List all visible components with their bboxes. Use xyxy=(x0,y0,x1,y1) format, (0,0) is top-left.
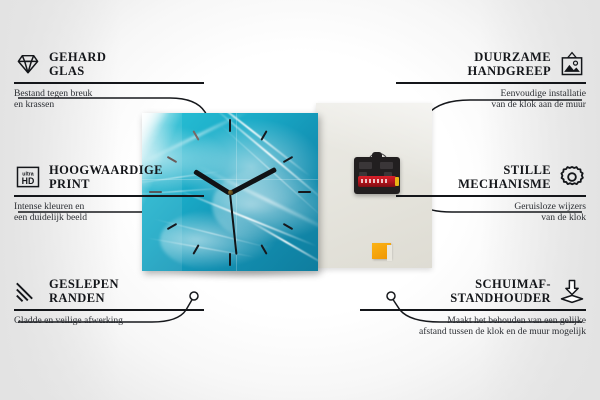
divider xyxy=(360,309,586,311)
feature-subtitle-line1: Bestand tegen breuk xyxy=(14,88,204,100)
feature-header: STILLE MECHANISME xyxy=(396,163,586,191)
divider xyxy=(396,195,586,197)
feature-gehard-glas[interactable]: GEHARD GLAS Bestand tegen breuk en krass… xyxy=(14,50,204,111)
hour-tick-6 xyxy=(229,253,231,266)
feature-title: SCHUIMAF- STANDHOUDER xyxy=(450,277,551,305)
ultra-hd-icon: ultra HD xyxy=(14,163,42,191)
picture-frame-icon xyxy=(558,50,586,78)
feature-title: GESLEPEN RANDEN xyxy=(49,277,119,305)
feature-subtitle-line2: van de klok xyxy=(396,212,586,224)
feature-subtitle-line1: Eenvoudige installatie xyxy=(396,88,586,100)
divider xyxy=(396,82,586,84)
diamond-icon xyxy=(14,50,42,78)
clock-movement xyxy=(354,152,400,194)
feature-subtitle-line1: Maakt het behouden van een gelijke xyxy=(360,315,586,327)
feature-duurzame-handgreep[interactable]: DUURZAME HANDGREEP Eenvoudige installati… xyxy=(396,50,586,111)
feature-subtitle-line1: Gladde en veilige afwerking xyxy=(14,315,204,327)
foam-spacer-pad xyxy=(372,243,391,259)
infographic-canvas: GEHARD GLAS Bestand tegen breuk en krass… xyxy=(0,0,600,400)
movement-slot xyxy=(380,162,393,169)
press-down-pad-icon xyxy=(558,277,586,305)
feature-title: GEHARD GLAS xyxy=(49,50,106,78)
feature-stille-mechanisme[interactable]: STILLE MECHANISME Geruisloze wijzers van… xyxy=(396,163,586,224)
movement-slot xyxy=(359,162,372,169)
feature-schuimafstandhouder[interactable]: SCHUIMAF- STANDHOUDER Maakt het behouden… xyxy=(360,277,586,338)
feature-subtitle-line2: een duidelijk beeld xyxy=(14,212,204,224)
divider xyxy=(14,195,204,197)
feature-geslepen-randen[interactable]: GESLEPEN RANDEN Gladde en veilige afwerk… xyxy=(14,277,204,326)
divider xyxy=(14,82,204,84)
feature-subtitle-line2: afstand tussen de klok en de muur mogeli… xyxy=(360,326,586,338)
feature-header: DUURZAME HANDGREEP xyxy=(396,50,586,78)
feature-title: DUURZAME HANDGREEP xyxy=(468,50,551,78)
feature-subtitle-line1: Geruisloze wijzers xyxy=(396,201,586,213)
svg-text:HD: HD xyxy=(22,176,35,186)
feature-title: STILLE MECHANISME xyxy=(458,163,551,191)
feature-subtitle-line1: Intense kleuren en xyxy=(14,201,204,213)
gear-icon xyxy=(558,163,586,191)
feature-header: SCHUIMAF- STANDHOUDER xyxy=(360,277,586,305)
feature-header: ultra HD HOOGWAARDIGE PRINT xyxy=(14,163,204,191)
feature-header: GESLEPEN RANDEN xyxy=(14,277,204,305)
feature-hoogwaardige-print[interactable]: ultra HD HOOGWAARDIGE PRINT Intense kleu… xyxy=(14,163,204,224)
clock-hub xyxy=(228,190,233,195)
hour-tick-12 xyxy=(229,119,231,132)
feature-title: HOOGWAARDIGE PRINT xyxy=(49,163,163,191)
feature-subtitle-line2: en krassen xyxy=(14,99,204,111)
feature-header: GEHARD GLAS xyxy=(14,50,204,78)
battery-label xyxy=(361,179,387,183)
hour-tick-3 xyxy=(298,191,311,193)
diagonal-lines-icon xyxy=(14,277,42,305)
feature-subtitle-line2: van de klok aan de muur xyxy=(396,99,586,111)
divider xyxy=(14,309,204,311)
